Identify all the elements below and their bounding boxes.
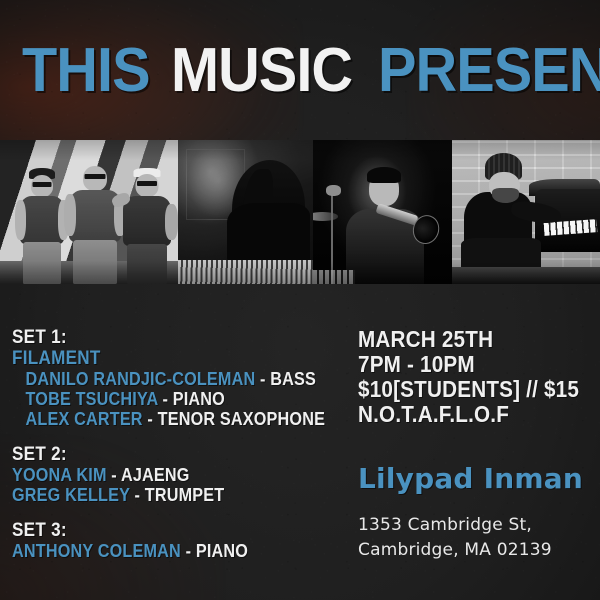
poster-headline: THIS MUSIC PRESENTS <box>22 40 584 102</box>
venue-address-line-2: Cambridge, MA 02139 <box>358 538 594 563</box>
concert-poster: THIS MUSIC PRESENTS <box>0 0 600 600</box>
set-3-label: SET 3: <box>12 520 322 541</box>
set-2-member-2-name: GREG KELLEY <box>12 485 130 505</box>
headline-word-this: THIS <box>22 40 150 102</box>
set-3-member-1-dash: - <box>186 541 192 561</box>
pianist-photo <box>452 140 600 284</box>
set-block-3: SET 3: ANTHONY COLEMAN - PIANO <box>12 520 356 561</box>
set-2-member-2-dash: - <box>134 485 140 505</box>
set-2-label: SET 2: <box>12 444 322 465</box>
trumpeter-photo <box>313 140 452 284</box>
headline-word-presents: PRESENTS <box>378 40 600 102</box>
event-date: MARCH 25TH <box>358 327 570 352</box>
filament-trio-photo <box>0 140 178 284</box>
set-2-member-1-instrument: AJAENG <box>121 465 190 485</box>
ajaeng-player-photo <box>178 140 313 284</box>
set-1-member-3-dash: - <box>147 409 153 429</box>
event-policy: N.O.T.A.F.L.O.F <box>358 402 570 427</box>
set-1-member-3: ALEX CARTER - TENOR SAXOPHONE <box>12 409 322 429</box>
set-1-member-1-instrument: BASS <box>270 369 316 389</box>
venue-address-line-1: 1353 Cambridge St, <box>358 513 594 538</box>
set-1-member-2-dash: - <box>162 389 168 409</box>
set-1-member-1-name: DANILO RANDJIC-COLEMAN <box>26 369 256 389</box>
set-1-member-3-instrument: TENOR SAXOPHONE <box>158 409 325 429</box>
headline-word-music: MUSIC <box>171 40 352 102</box>
set-1-member-2: TOBE TSUCHIYA - PIANO <box>12 389 322 409</box>
set-2-member-1-name: YOONA KIM <box>12 465 107 485</box>
set-2-member-1: YOONA KIM - AJAENG <box>12 465 322 485</box>
set-1-band: FILAMENT <box>12 348 322 369</box>
set-1-member-3-name: ALEX CARTER <box>26 409 143 429</box>
set-block-1: SET 1: FILAMENT DANILO RANDJIC-COLEMAN -… <box>12 327 356 429</box>
event-price: $10[STUDENTS] // $15 <box>358 377 570 402</box>
venue-name: Lilypad Inman <box>358 463 594 495</box>
set-1-member-1-dash: - <box>260 369 266 389</box>
set-1-member-2-name: TOBE TSUCHIYA <box>26 389 158 409</box>
lineup-column: SET 1: FILAMENT DANILO RANDJIC-COLEMAN -… <box>12 327 356 561</box>
set-2-member-2-instrument: TRUMPET <box>145 485 225 505</box>
set-1-label: SET 1: <box>12 327 322 348</box>
set-2-member-2: GREG KELLEY - TRUMPET <box>12 485 322 505</box>
event-details-column: MARCH 25TH 7PM - 10PM $10[STUDENTS] // $… <box>358 327 594 563</box>
set-2-member-1-dash: - <box>111 465 117 485</box>
set-3-member-1-instrument: PIANO <box>196 541 248 561</box>
event-time: 7PM - 10PM <box>358 352 570 377</box>
set-block-2: SET 2: YOONA KIM - AJAENG GREG KELLEY - … <box>12 444 356 505</box>
set-1-member-2-instrument: PIANO <box>173 389 225 409</box>
performer-photo-strip <box>0 140 600 284</box>
set-3-member-1: ANTHONY COLEMAN - PIANO <box>12 541 322 561</box>
set-1-member-1: DANILO RANDJIC-COLEMAN - BASS <box>12 369 322 389</box>
set-3-member-1-name: ANTHONY COLEMAN <box>12 541 181 561</box>
